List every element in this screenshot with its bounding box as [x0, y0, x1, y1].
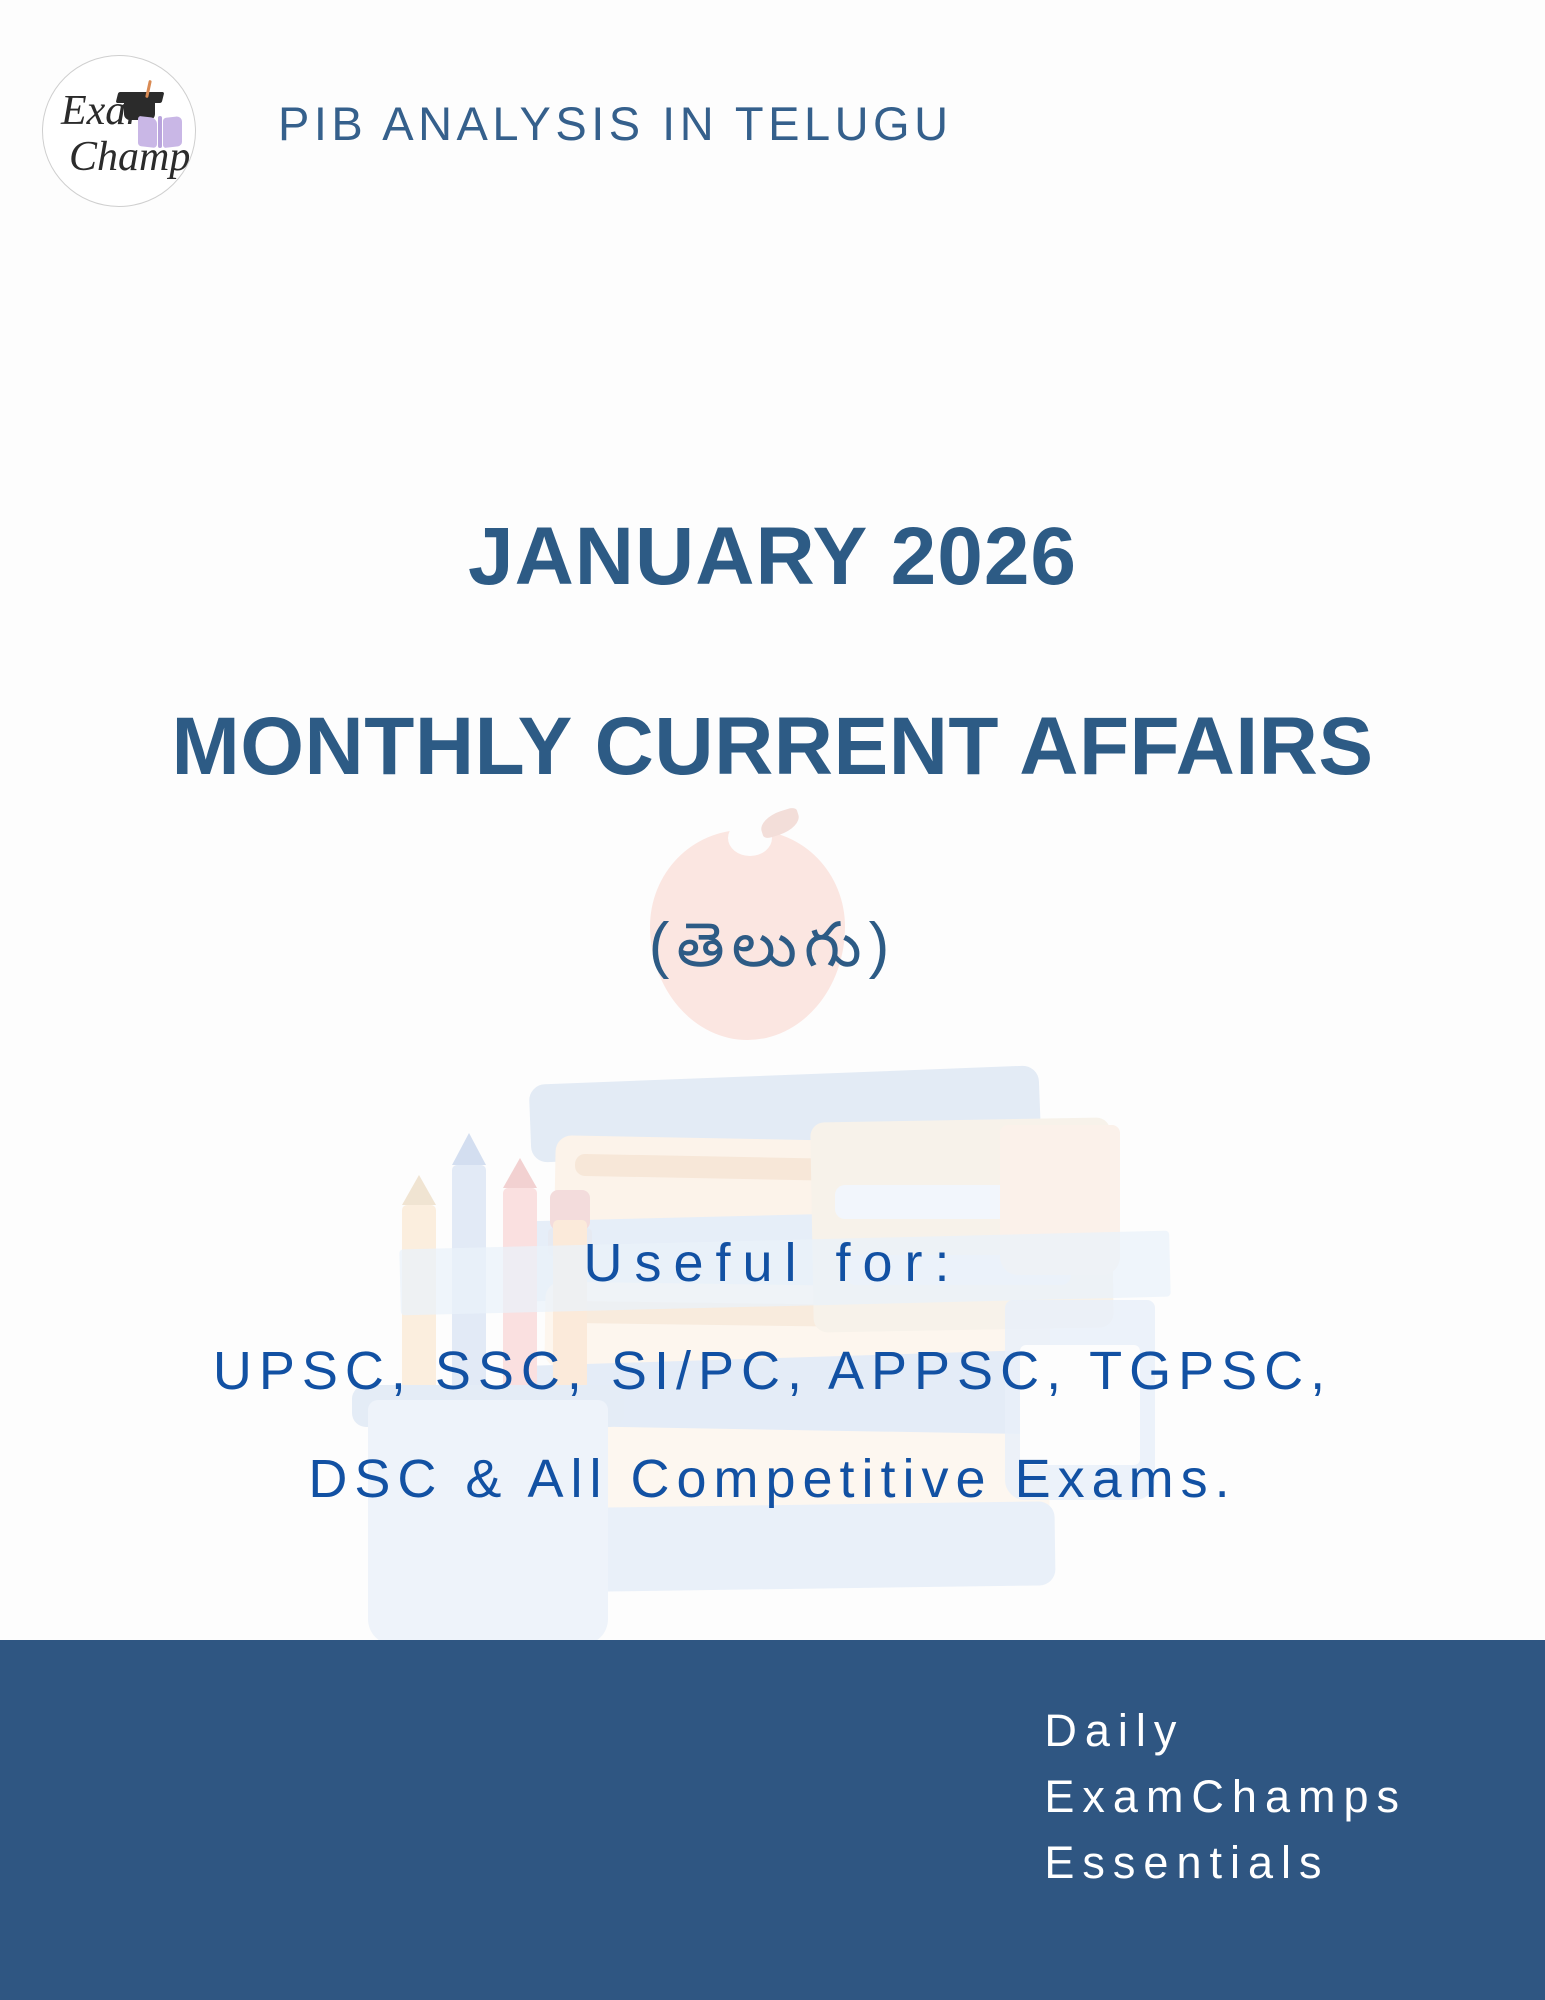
open-book-icon: [138, 114, 182, 148]
footer-brand: Daily ExamChamps Essentials: [1044, 1698, 1407, 1896]
page-title-subject: MONTHLY CURRENT AFFAIRS: [0, 700, 1545, 794]
book-stack-item: [529, 1065, 1042, 1163]
exam-list-line-1: UPSC, SSC, SI/PC, APPSC, TGPSC,: [0, 1340, 1545, 1402]
book-stack-item: [554, 1135, 1056, 1231]
notebook-shape: [810, 1117, 1114, 1332]
apple-dent: [728, 820, 772, 856]
cover-page: Exam Champs PIB ANALYSIS IN TELUGU JANUA…: [0, 0, 1545, 2000]
footer-line-1: Daily: [1044, 1698, 1407, 1764]
footer-line-3: Essentials: [1044, 1830, 1407, 1896]
notebook-band: [835, 1185, 1085, 1219]
graduation-cap-icon: [117, 78, 163, 118]
pencil-eraser-icon: [550, 1190, 590, 1230]
page-title-month-year: JANUARY 2026: [0, 510, 1545, 604]
footer-bar: Daily ExamChamps Essentials: [0, 1640, 1545, 2000]
book-stack-item: [514, 1501, 1055, 1593]
useful-for-label: Useful for:: [0, 1232, 1545, 1294]
footer-line-2: ExamChamps: [1044, 1764, 1407, 1830]
book-page-edge: [565, 1301, 1010, 1329]
pencil-cup-icon: [368, 1400, 608, 1645]
exam-list-line-2: DSC & All Competitive Exams.: [0, 1448, 1545, 1510]
examchamps-logo[interactable]: Exam Champs: [42, 55, 196, 207]
page-header: Exam Champs PIB ANALYSIS IN TELUGU: [0, 0, 1545, 260]
book-page-edge: [575, 1154, 1015, 1184]
language-subtitle: (తెలుగు): [0, 910, 1545, 996]
header-title: PIB ANALYSIS IN TELUGU: [278, 96, 953, 151]
apple-leaf-icon: [758, 806, 803, 839]
